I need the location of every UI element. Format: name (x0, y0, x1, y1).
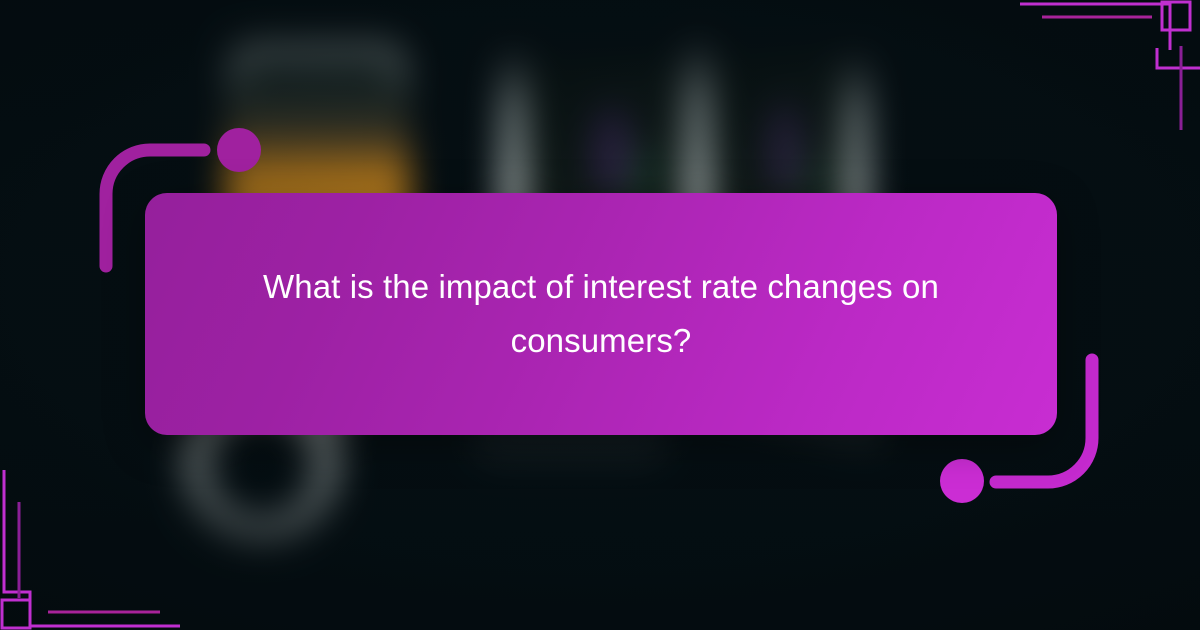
question-card[interactable]: What is the impact of interest rate chan… (145, 193, 1057, 435)
accent-dot-top-left (217, 128, 261, 172)
poster-canvas: What is the impact of interest rate chan… (0, 0, 1200, 630)
circuit-corner-top-right-icon (1000, 0, 1200, 130)
question-text: What is the impact of interest rate chan… (201, 260, 1001, 369)
accent-dot-bottom-right (940, 459, 984, 503)
circuit-corner-bottom-left-icon (0, 470, 200, 630)
